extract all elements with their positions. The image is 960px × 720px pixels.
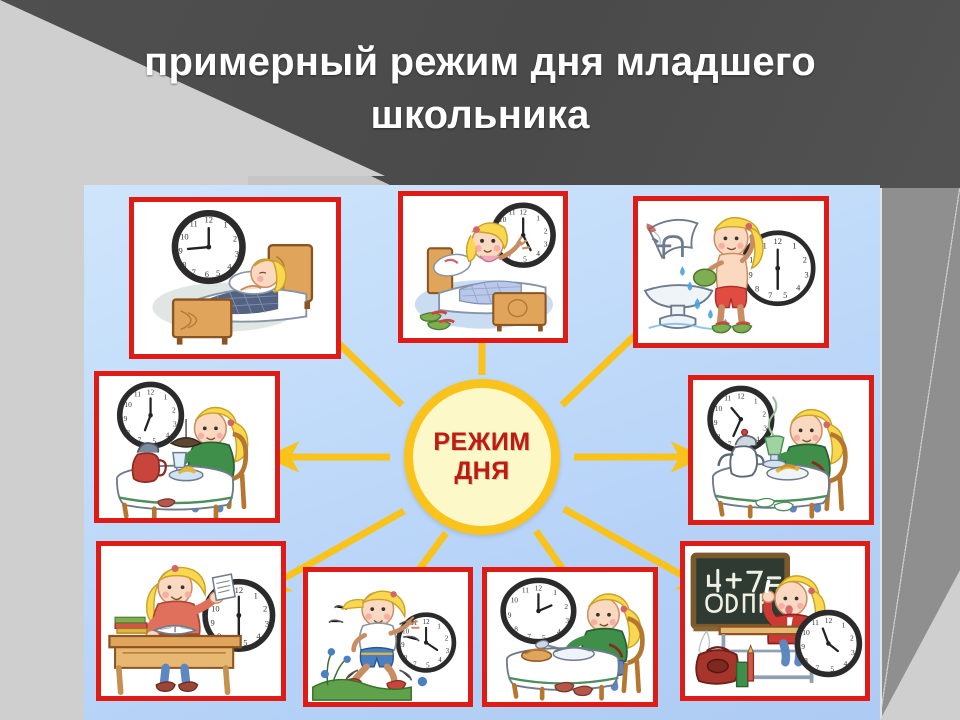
svg-text:4: 4	[536, 249, 540, 258]
svg-text:9: 9	[508, 611, 512, 620]
center-node-rezhim-dnya[interactable]: РЕЖИМ ДНЯ	[404, 379, 560, 535]
svg-text:1: 1	[536, 213, 540, 222]
illustration-sleeping: 1212 345 678 91011	[134, 202, 336, 354]
svg-text:11: 11	[508, 208, 515, 217]
background-grey-right-hairline	[880, 188, 960, 720]
slide-root: примерный режим дня младшего школьника	[0, 0, 960, 720]
card-washing[interactable]: 1212 345 789 1011	[633, 196, 829, 348]
illustration-breakfast: 1212 345 789 1011	[693, 380, 869, 520]
illustration-lunch: 1212 345 789 1011	[487, 572, 653, 702]
svg-text:12: 12	[519, 208, 527, 217]
card-supper[interactable]: 1212 345 789 1011	[94, 371, 280, 523]
svg-text:1: 1	[224, 219, 228, 229]
svg-text:2: 2	[762, 409, 766, 418]
svg-text:5: 5	[216, 268, 220, 278]
svg-text:11: 11	[522, 585, 529, 594]
svg-text:1: 1	[792, 242, 796, 251]
svg-text:9: 9	[749, 271, 753, 280]
svg-text:8: 8	[804, 656, 808, 665]
card-homework[interactable]: 1212 345 789 1011	[96, 541, 286, 701]
center-node-line1: РЕЖИМ	[433, 428, 530, 457]
svg-text:5: 5	[783, 291, 787, 300]
center-node-line2: ДНЯ	[454, 457, 509, 486]
svg-text:11: 11	[134, 390, 141, 399]
svg-text:3: 3	[173, 419, 177, 428]
page-title: примерный режим дня младшего школьника	[60, 36, 900, 142]
svg-text:7: 7	[815, 664, 819, 673]
svg-text:3: 3	[544, 239, 548, 248]
svg-text:5: 5	[426, 662, 430, 670]
svg-text:9: 9	[714, 418, 718, 427]
svg-text:9: 9	[178, 246, 182, 256]
svg-text:3: 3	[265, 619, 269, 629]
svg-text:8: 8	[126, 428, 130, 437]
svg-text:10: 10	[802, 628, 810, 637]
svg-text:8: 8	[182, 260, 186, 270]
svg-text:1: 1	[553, 588, 557, 597]
card-outdoor-play[interactable]: 1212 345 789 1011	[303, 567, 473, 707]
svg-text:7: 7	[192, 267, 196, 277]
svg-text:9: 9	[210, 618, 214, 628]
svg-text:3: 3	[446, 647, 450, 655]
svg-text:7: 7	[728, 439, 732, 448]
svg-text:2: 2	[850, 634, 854, 643]
illustration-supper: 1212 345 789 1011	[99, 376, 275, 518]
svg-text:8: 8	[404, 654, 408, 662]
svg-text:3: 3	[565, 616, 569, 625]
svg-text:12: 12	[774, 237, 782, 246]
illustration-homework: 1212 345 789 1011	[101, 546, 281, 696]
svg-text:12: 12	[147, 388, 155, 397]
svg-text:12: 12	[737, 392, 745, 401]
svg-text:12: 12	[423, 618, 430, 626]
svg-text:10: 10	[511, 596, 519, 605]
card-sleeping[interactable]: 1212 345 678 91011	[129, 197, 341, 359]
svg-text:10: 10	[715, 404, 723, 413]
svg-text:2: 2	[233, 233, 237, 243]
illustration-school: 1212 345 789 1011	[685, 546, 865, 696]
svg-text:11: 11	[812, 618, 819, 627]
background-triangle-bottom-right	[880, 570, 960, 720]
svg-text:9: 9	[401, 641, 405, 649]
svg-text:4: 4	[438, 656, 442, 664]
svg-text:12: 12	[205, 215, 213, 225]
svg-text:1: 1	[254, 591, 258, 601]
svg-text:1: 1	[164, 392, 168, 401]
svg-text:9: 9	[123, 414, 127, 423]
svg-text:12: 12	[235, 585, 243, 595]
svg-text:10: 10	[499, 215, 507, 224]
svg-text:2: 2	[544, 226, 548, 235]
card-lunch[interactable]: 1212 345 789 1011	[482, 567, 658, 707]
illustration-waking-up: 1212 345 789 1011	[403, 196, 563, 338]
svg-text:5: 5	[523, 254, 527, 263]
illustration-outdoor-play: 1212 345 789 1011	[308, 572, 468, 702]
svg-text:3: 3	[851, 648, 855, 657]
svg-text:8: 8	[717, 432, 721, 441]
svg-text:10: 10	[180, 232, 188, 242]
svg-text:5: 5	[243, 637, 247, 647]
svg-text:1: 1	[842, 621, 846, 630]
background-grey-right-column	[880, 188, 960, 720]
svg-text:2: 2	[263, 604, 267, 614]
svg-text:11: 11	[190, 218, 198, 228]
svg-text:4: 4	[557, 627, 561, 636]
svg-text:3: 3	[235, 248, 239, 258]
svg-text:4: 4	[166, 431, 170, 440]
svg-text:2: 2	[564, 602, 568, 611]
svg-text:4: 4	[843, 659, 847, 668]
svg-text:3: 3	[763, 423, 767, 432]
svg-text:6: 6	[205, 269, 209, 279]
svg-text:7: 7	[527, 632, 531, 641]
svg-text:5: 5	[830, 665, 834, 674]
card-waking-up[interactable]: 1212 345 789 1011	[398, 191, 568, 343]
svg-text:10: 10	[124, 400, 132, 409]
svg-text:9: 9	[801, 642, 805, 651]
svg-text:12: 12	[535, 584, 543, 593]
svg-text:8: 8	[514, 624, 518, 633]
svg-text:1: 1	[754, 396, 758, 405]
svg-text:1: 1	[437, 623, 441, 631]
svg-text:2: 2	[172, 405, 176, 414]
svg-text:12: 12	[825, 616, 833, 625]
svg-text:11: 11	[724, 394, 731, 403]
svg-text:7: 7	[768, 291, 772, 300]
card-school[interactable]: 1212 345 789 1011	[680, 541, 870, 701]
diagram-panel: РЕЖИМ ДНЯ 1212 345 678 91011	[84, 185, 880, 720]
svg-text:2: 2	[445, 635, 449, 643]
card-breakfast[interactable]: 1212 345 789 1011	[688, 375, 874, 525]
svg-text:7: 7	[137, 435, 141, 444]
illustration-washing: 1212 345 789 1011	[638, 201, 824, 343]
svg-text:8: 8	[755, 285, 759, 294]
svg-text:2: 2	[803, 256, 807, 265]
svg-text:7: 7	[413, 661, 417, 669]
svg-text:3: 3	[805, 271, 809, 280]
